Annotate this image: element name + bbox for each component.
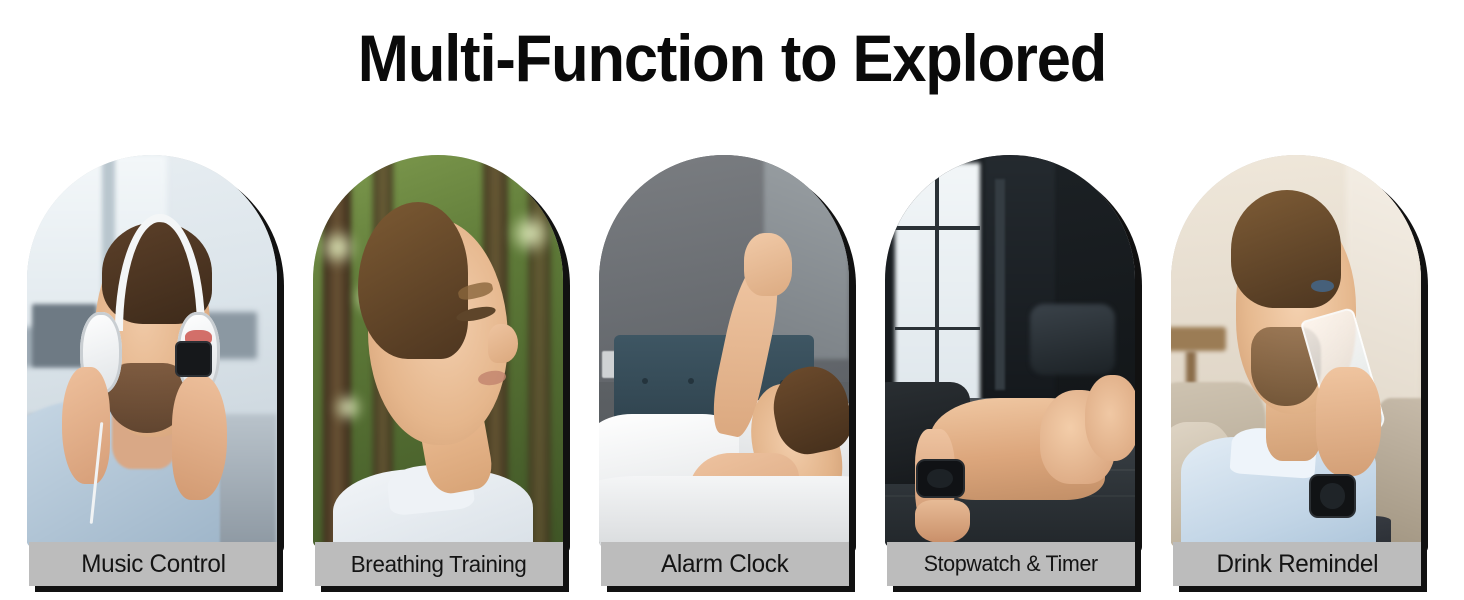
scene-man-doing-pushups-in-gym bbox=[885, 155, 1135, 547]
card-photo-music-control bbox=[27, 155, 277, 547]
smartwatch-icon bbox=[918, 461, 963, 496]
card-photo-alarm-clock bbox=[599, 155, 849, 547]
page-title: Multi-Function to Explored bbox=[51, 24, 1413, 93]
card-label-stopwatch-timer: Stopwatch & Timer bbox=[887, 542, 1135, 586]
feature-card-breathing-training[interactable]: Breathing Training bbox=[313, 155, 563, 591]
feature-banner: Multi-Function to Explored M bbox=[0, 0, 1464, 600]
smartwatch-icon bbox=[1311, 476, 1354, 515]
card-label-text: Breathing Training bbox=[351, 551, 527, 578]
card-label-alarm-clock: Alarm Clock bbox=[601, 542, 849, 586]
feature-card-alarm-clock[interactable]: Alarm Clock bbox=[599, 155, 849, 591]
card-label-text: Alarm Clock bbox=[661, 550, 789, 579]
card-label-drink-remindel: Drink Remindel bbox=[1173, 542, 1421, 586]
feature-card-drink-remindel[interactable]: Drink Remindel bbox=[1171, 155, 1421, 591]
card-photo-drink-remindel bbox=[1171, 155, 1421, 547]
card-label-music-control: Music Control bbox=[29, 542, 277, 586]
card-label-text: Music Control bbox=[81, 550, 225, 579]
feature-card-stopwatch-timer[interactable]: Stopwatch & Timer bbox=[885, 155, 1135, 591]
card-photo-breathing-training bbox=[313, 155, 563, 547]
scene-man-drinking-water-on-sofa bbox=[1171, 155, 1421, 547]
card-label-text: Stopwatch & Timer bbox=[924, 551, 1098, 577]
scene-man-waking-up-in-bed bbox=[599, 155, 849, 547]
scene-man-with-headphones-in-office bbox=[27, 155, 277, 547]
card-label-breathing-training: Breathing Training bbox=[315, 542, 563, 586]
scene-man-breathing-in-forest bbox=[313, 155, 563, 547]
feature-card-row: Music Control Breathing Training bbox=[27, 155, 1443, 591]
card-photo-stopwatch-timer bbox=[885, 155, 1135, 547]
feature-card-music-control[interactable]: Music Control bbox=[27, 155, 277, 591]
card-label-text: Drink Remindel bbox=[1216, 550, 1378, 579]
smartwatch-icon bbox=[177, 343, 210, 374]
